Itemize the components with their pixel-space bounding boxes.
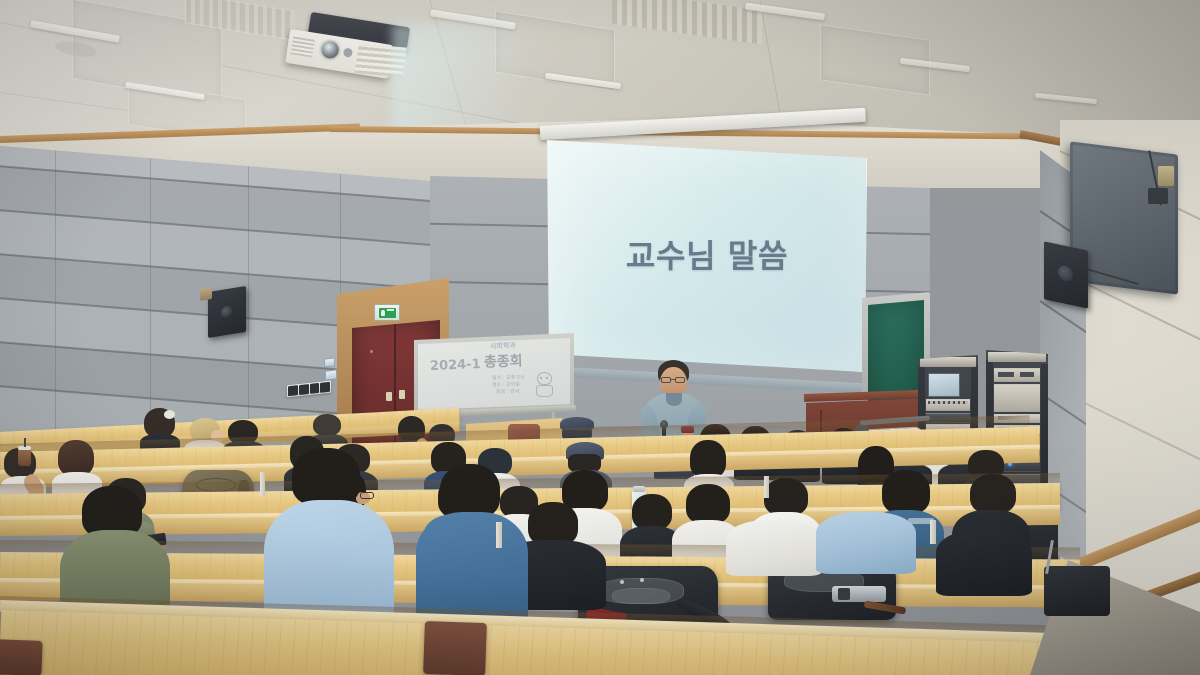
- rack-top-label: [988, 352, 1046, 362]
- lecture-hall-photo: 교수님 말씀 2024-1 사회학과 총종회 일시 : 오후 5시 장소 : 강…: [0, 0, 1200, 675]
- exit-sign: [374, 304, 400, 321]
- wall-bracket: [1148, 188, 1168, 204]
- student: [936, 530, 1032, 596]
- slide-title: 교수님 말씀: [548, 231, 866, 277]
- chair-back[interactable]: [423, 621, 487, 675]
- wall-jack-plate[interactable]: [325, 369, 337, 380]
- student: [816, 512, 916, 574]
- projector-vent-icon: [290, 34, 315, 57]
- presenter-collar: [666, 393, 682, 406]
- whiteboard-line-2: 총종회: [484, 350, 523, 371]
- student-glasses-icon: [360, 492, 374, 499]
- student: [726, 520, 822, 576]
- rack-top-label: [920, 357, 976, 367]
- wall-jack-plate[interactable]: [324, 357, 335, 367]
- hair-tie: [164, 410, 175, 419]
- desk-leg: [260, 472, 265, 496]
- whiteboard-note-3: 회장 : 민서: [496, 388, 519, 396]
- whiteboard-doodle: [534, 372, 556, 398]
- whiteboard[interactable]: 2024-1 사회학과 총종회 일시 : 오후 5시 장소 : 강의실 회장 :…: [418, 338, 570, 410]
- bottle-cap: [633, 486, 645, 492]
- drink-cup: [18, 444, 31, 466]
- speaker-right: [1044, 241, 1088, 308]
- wall-bracket: [1158, 166, 1174, 186]
- whiteboard-line-1: 2024-1: [430, 357, 481, 374]
- door-handle[interactable]: [399, 390, 405, 399]
- speaker-left: [208, 286, 246, 338]
- desk-leg: [930, 520, 936, 544]
- projection-screen: 교수님 말씀: [547, 140, 867, 372]
- speaker-bracket: [200, 287, 212, 301]
- presenter-glasses-icon: [661, 377, 686, 383]
- desk-leg: [496, 522, 502, 548]
- desk-leg: [764, 476, 769, 498]
- door-handle[interactable]: [386, 392, 392, 401]
- chair-back[interactable]: [0, 639, 43, 675]
- floor-equipment: [1044, 566, 1110, 616]
